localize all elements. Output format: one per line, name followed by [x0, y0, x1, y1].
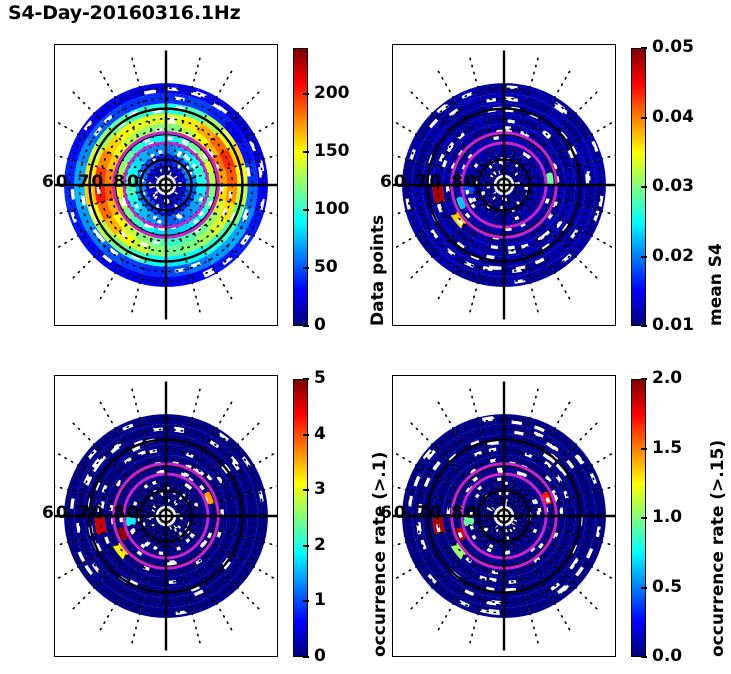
colorbar-tick-label: 1.5 — [652, 440, 682, 457]
colorbar-tickmark — [641, 448, 647, 450]
colorbar-tick-label: 1.0 — [652, 509, 682, 526]
colorbar-tick-label: 0.0 — [652, 648, 682, 665]
colorbar-tickmark — [641, 587, 647, 589]
colorbar-tickmark — [641, 517, 647, 519]
colorbar-tickmark — [641, 656, 647, 658]
empty-bin — [497, 477, 501, 481]
latitude-tick-labels-occurrence-rate-gt-15: 60 70 80 — [380, 503, 479, 523]
figure-canvas: S4-Day-20160316.1Hz 60 70 80050100150200… — [0, 0, 731, 674]
panel-occurrence-rate-gt-15: 60 70 800.00.51.01.52.0occurrence rate (… — [0, 0, 731, 674]
empty-bin — [537, 511, 541, 515]
colorbar-axis-label-occurrence-rate-gt-15: occurrence rate (>.15) — [708, 440, 728, 657]
colorbar-tickmark — [641, 378, 647, 380]
colorbar-tick-label: 2.0 — [652, 370, 682, 387]
colorbar-tick-label: 0.5 — [652, 579, 682, 596]
